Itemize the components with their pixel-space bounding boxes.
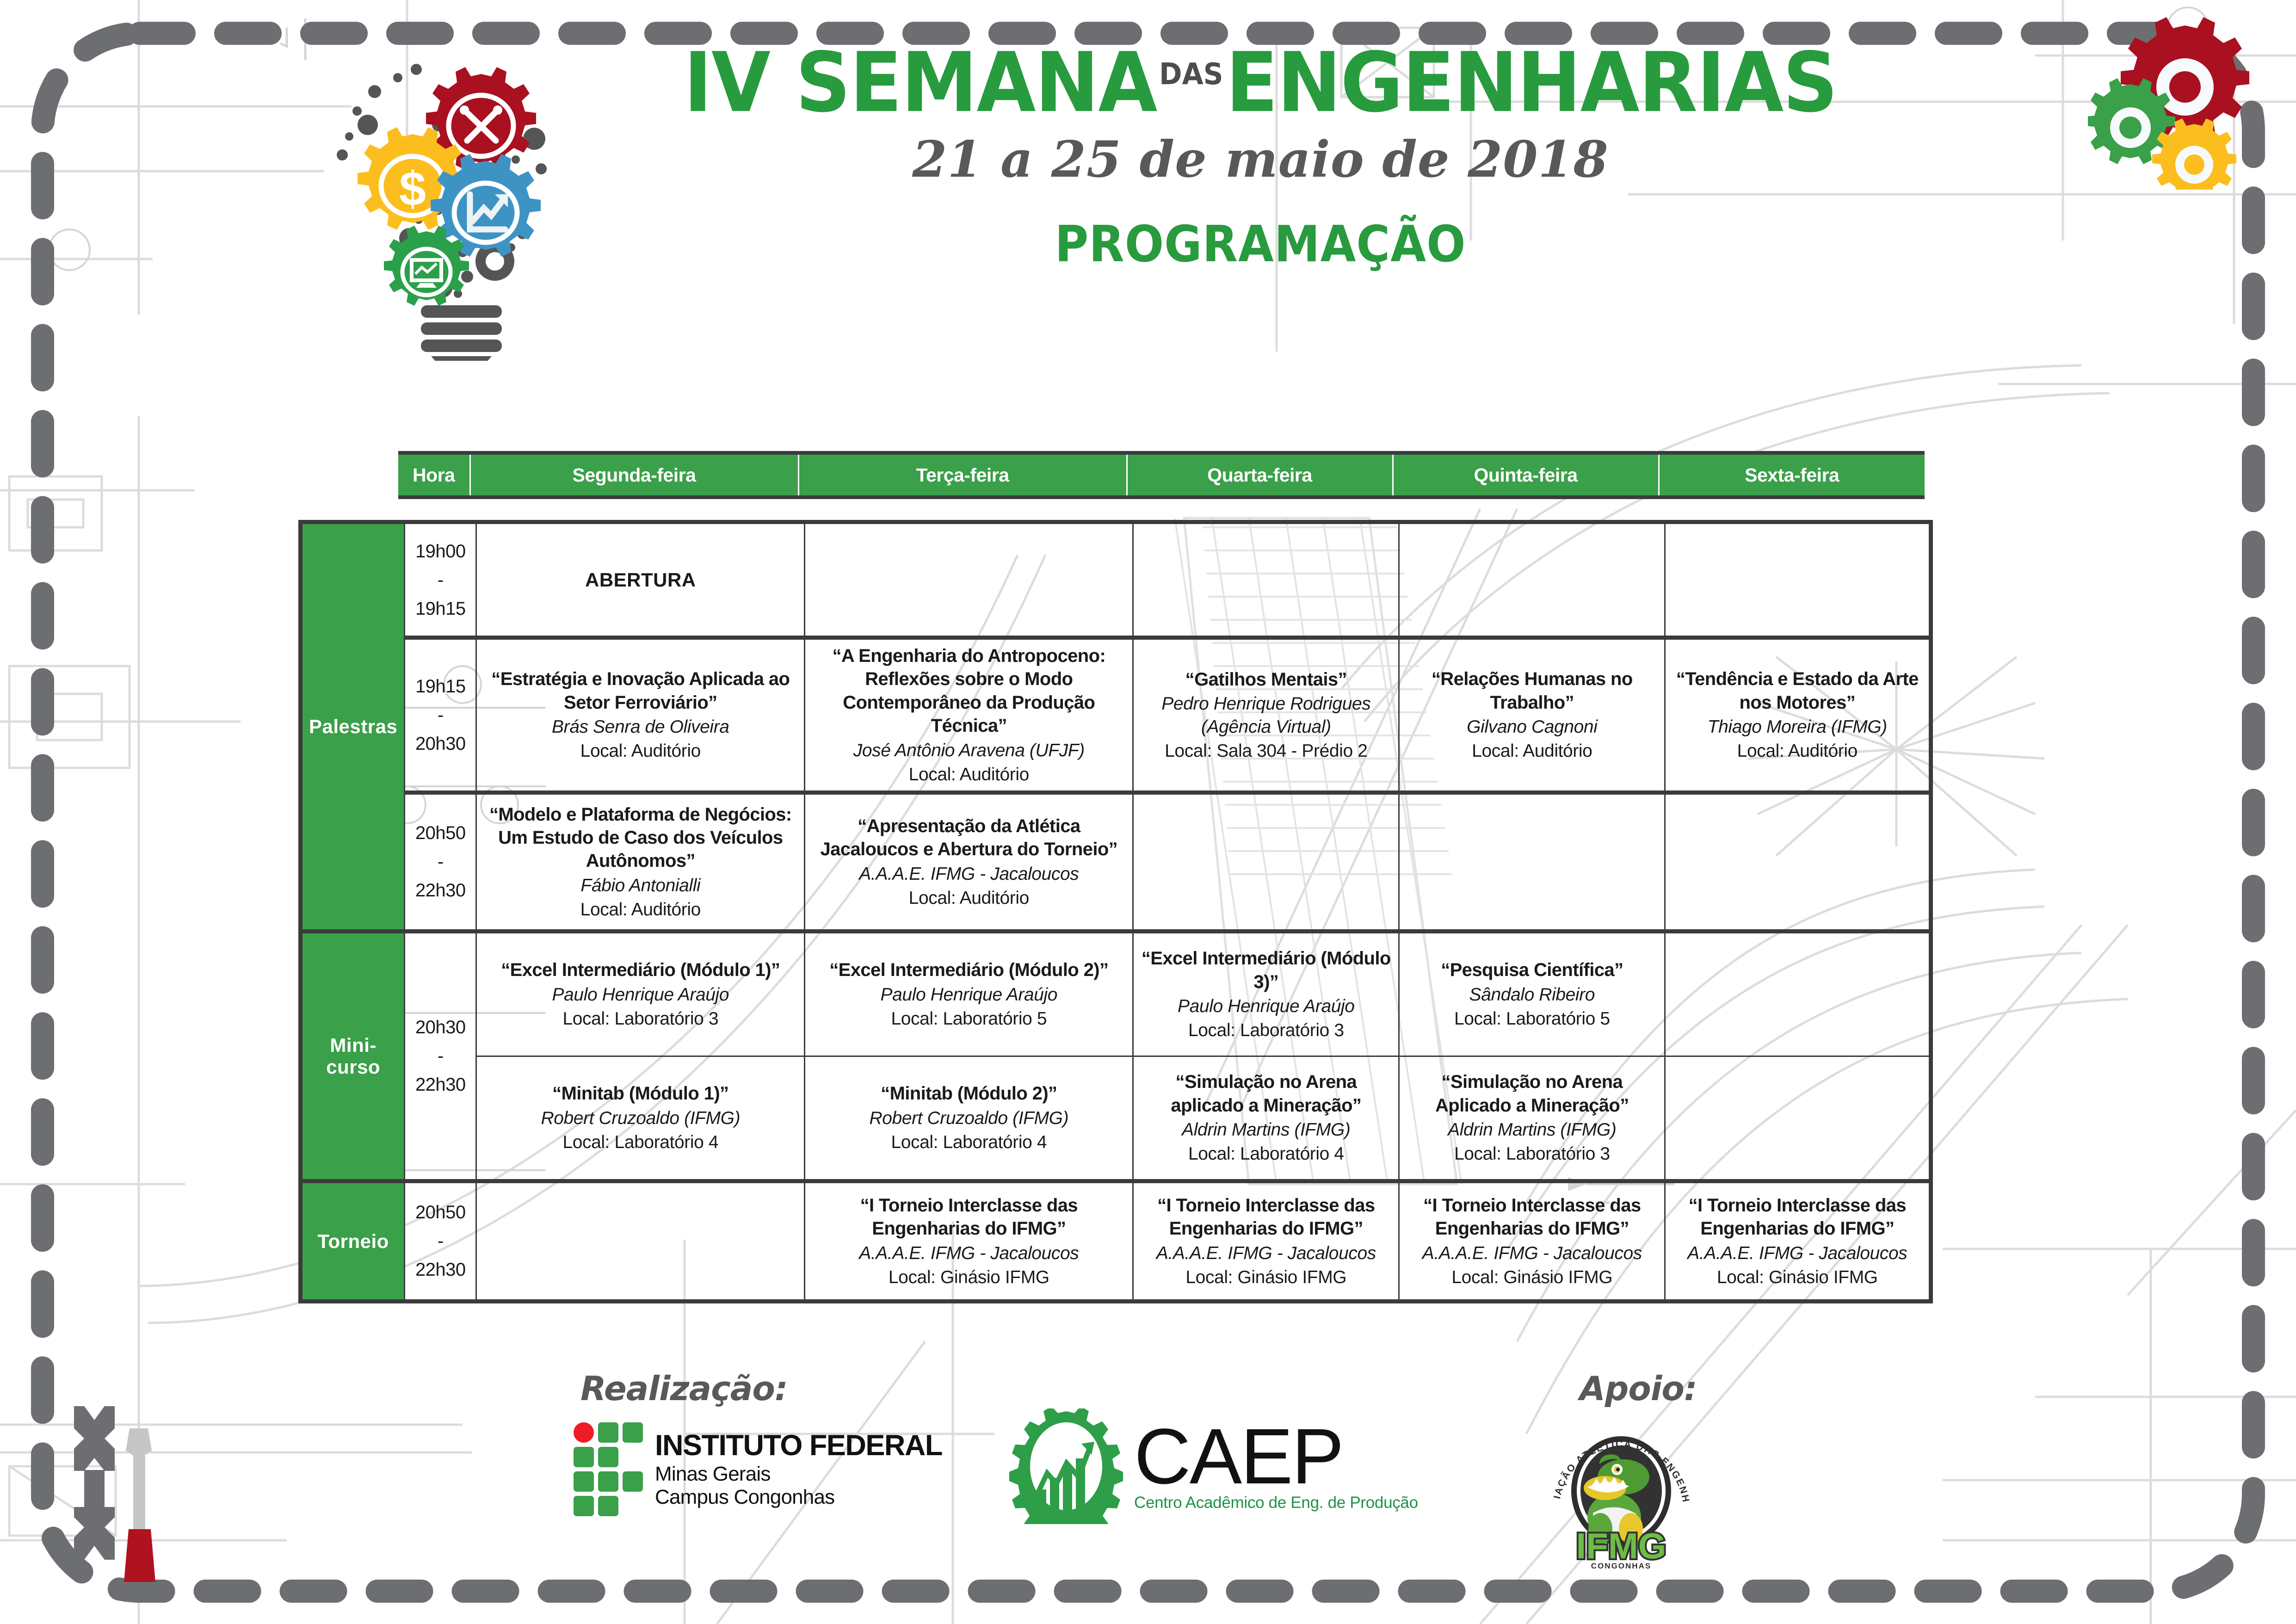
event-cell-quarta: “I Torneio Interclasse das Engenharias d…	[1133, 1181, 1399, 1301]
event-cell-quinta: “Pesquisa Científica” Sândalo Ribeiro Lo…	[1399, 931, 1665, 1056]
corner-gear-cluster	[2088, 5, 2282, 190]
table-row: Torneio 20h50 - 22h30 “I Torneio Intercl…	[301, 1181, 1931, 1301]
event-speaker: A.A.A.E. IFMG - Jacaloucos	[812, 863, 1126, 885]
event-location: Local: Auditório	[1672, 740, 1922, 762]
category-cell-torneio: Torneio	[301, 1181, 405, 1301]
event-location: Local: Auditório	[812, 763, 1126, 786]
event-cell-quarta: “Excel Intermediário (Módulo 3)” Paulo H…	[1133, 931, 1399, 1056]
col-header-sexta-feira: Sexta-feira	[1659, 453, 1925, 497]
section-title-programacao: PROGRAMAÇÃO	[650, 216, 1871, 273]
table-row: Mini-curso 20h30 - 22h30 “Excel Intermed…	[301, 931, 1931, 1056]
screwdriver-icon	[124, 1428, 155, 1582]
event-location: Local: Laboratório 3	[483, 1007, 797, 1030]
event-cell-quarta: “Simulação no Arena aplicado a Mineração…	[1133, 1056, 1399, 1181]
event-cell-sexta	[1665, 931, 1931, 1056]
event-location: Local: Auditório	[1406, 740, 1658, 762]
event-cell-terca: “Minitab (Módulo 2)” Robert Cruzoaldo (I…	[805, 1056, 1133, 1181]
event-title: “Tendência e Estado da Arte nos Motores”	[1672, 667, 1922, 714]
schedule-body: Palestras 19h00 - 19h15 ABERTURA 19h15 -…	[298, 520, 1933, 1303]
caep-acronym: CAEP	[1134, 1420, 1418, 1493]
header-body-gap	[298, 499, 1933, 520]
event-plain: ABERTURA	[483, 569, 797, 591]
event-title: “I Torneio Interclasse das Engenharias d…	[1140, 1194, 1392, 1241]
realizacao-label: Realização:	[580, 1369, 788, 1408]
event-title: “Excel Intermediário (Módulo 2)”	[812, 958, 1126, 982]
event-speaker: Paulo Henrique Araújo	[812, 983, 1126, 1006]
event-cell-quarta	[1133, 792, 1399, 931]
col-header-hora: Hora	[398, 453, 470, 497]
event-title: “Minitab (Módulo 2)”	[812, 1082, 1126, 1105]
poster-root: $	[0, 0, 2296, 1624]
event-cell-quinta	[1399, 792, 1665, 931]
hora-cell: 20h30 - 22h30	[405, 931, 476, 1181]
schedule-header-row: Hora Segunda-feira Terça-feira Quarta-fe…	[398, 451, 1925, 499]
atletica-acronym: IFMG	[1576, 1525, 1666, 1566]
ifmg-institutional-logo: INSTITUTO FEDERAL Minas Gerais Campus Co…	[574, 1422, 942, 1516]
event-title: “Relações Humanas no Trabalho”	[1406, 667, 1658, 714]
event-location: Local: Laboratório 3	[1406, 1142, 1658, 1165]
event-title: “Minitab (Módulo 1)”	[483, 1082, 797, 1105]
event-location: Local: Ginásio IFMG	[812, 1266, 1126, 1289]
event-speaker: Robert Cruzoaldo (IFMG)	[483, 1107, 797, 1130]
event-location: Local: Laboratório 5	[1406, 1007, 1658, 1030]
title-block: IV SEMANADASENGENHARIAS 21 a 25 de maio …	[597, 42, 1924, 273]
event-cell-segunda: “Minitab (Módulo 1)” Robert Cruzoaldo (I…	[476, 1056, 805, 1181]
event-cell-quarta	[1133, 522, 1399, 638]
event-speaker: Gilvano Cagnoni	[1406, 716, 1658, 738]
event-title: “I Torneio Interclasse das Engenharias d…	[1672, 1194, 1922, 1241]
hora-cell: 19h15 - 20h30	[405, 638, 476, 793]
event-title: “I Torneio Interclasse das Engenharias d…	[812, 1194, 1126, 1241]
title-part-2: ENGENHARIAS	[1226, 35, 1837, 130]
event-cell-sexta	[1665, 1056, 1931, 1181]
event-cell-segunda: “Estratégia e Inovação Aplicada ao Setor…	[476, 638, 805, 793]
event-title: “Modelo e Plataforma de Negócios: Um Est…	[483, 803, 797, 873]
event-title: “Excel Intermediário (Módulo 3)”	[1140, 947, 1392, 994]
category-cell-mini-curso: Mini-curso	[301, 931, 405, 1181]
event-speaker: A.A.A.E. IFMG - Jacaloucos	[1672, 1242, 1922, 1265]
col-header-segunda-feira: Segunda-feira	[470, 453, 798, 497]
event-cell-terca: “I Torneio Interclasse das Engenharias d…	[805, 1181, 1133, 1301]
event-title: “Simulação no Arena aplicado a Mineração…	[1140, 1070, 1392, 1117]
event-speaker: José Antônio Aravena (UFJF)	[812, 739, 1126, 762]
svg-text:$: $	[399, 162, 426, 216]
event-cell-terca	[805, 522, 1133, 638]
event-cell-terca: “A Engenharia do Antropoceno: Reflexões …	[805, 638, 1133, 793]
table-row: Palestras 19h00 - 19h15 ABERTURA	[301, 522, 1931, 638]
event-speaker: Paulo Henrique Araújo	[483, 983, 797, 1006]
wrench-icon	[74, 1406, 115, 1560]
table-row: 19h15 - 20h30 “Estratégia e Inovação Apl…	[301, 638, 1931, 793]
event-dates: 21 a 25 de maio de 2018	[597, 130, 1924, 189]
event-cell-sexta: “I Torneio Interclasse das Engenharias d…	[1665, 1181, 1931, 1301]
event-speaker: Pedro Henrique Rodrigues (Agência Virtua…	[1140, 692, 1392, 738]
event-title: “Estratégia e Inovação Aplicada ao Setor…	[483, 667, 797, 714]
event-speaker: Fábio Antonialli	[483, 874, 797, 897]
event-speaker: A.A.A.E. IFMG - Jacaloucos	[812, 1242, 1126, 1265]
col-header-terca-feira: Terça-feira	[798, 453, 1127, 497]
page-title: IV SEMANADASENGENHARIAS	[643, 42, 1877, 124]
caep-logo: CAEP Centro Acadêmico de Eng. de Produçã…	[1008, 1408, 1418, 1524]
bulb-base	[421, 305, 502, 361]
event-location: Local: Auditório	[812, 887, 1126, 909]
caep-text-block: CAEP Centro Acadêmico de Eng. de Produçã…	[1134, 1420, 1418, 1512]
event-cell-segunda	[476, 1181, 805, 1301]
event-title: “Gatilhos Mentais”	[1140, 668, 1392, 691]
event-speaker: A.A.A.E. IFMG - Jacaloucos	[1140, 1242, 1392, 1265]
table-row: “Minitab (Módulo 1)” Robert Cruzoaldo (I…	[301, 1056, 1931, 1181]
event-location: Local: Laboratório 3	[1140, 1019, 1392, 1042]
col-header-quarta-feira: Quarta-feira	[1127, 453, 1393, 497]
event-speaker: Robert Cruzoaldo (IFMG)	[812, 1107, 1126, 1130]
event-location: Local: Auditório	[483, 898, 797, 921]
event-cell-quinta: “I Torneio Interclasse das Engenharias d…	[1399, 1181, 1665, 1301]
apoio-label: Apoio:	[1580, 1369, 1697, 1408]
event-location: Local: Laboratório 5	[812, 1007, 1126, 1030]
event-title: “I Torneio Interclasse das Engenharias d…	[1406, 1194, 1658, 1241]
event-speaker: Brás Senra de Oliveira	[483, 716, 797, 738]
event-cell-sexta: “Tendência e Estado da Arte nos Motores”…	[1665, 638, 1931, 793]
ifmg-logo-text: INSTITUTO FEDERAL Minas Gerais Campus Co…	[655, 1431, 942, 1507]
event-title: “A Engenharia do Antropoceno: Reflexões …	[812, 644, 1126, 738]
title-das: DAS	[1159, 60, 1223, 89]
hora-cell: 20h50 - 22h30	[405, 792, 476, 931]
ifmg-line-1: INSTITUTO FEDERAL	[655, 1431, 942, 1460]
event-location: Local: Ginásio IFMG	[1406, 1266, 1658, 1289]
event-cell-quinta: “Relações Humanas no Trabalho” Gilvano C…	[1399, 638, 1665, 793]
caep-tagline: Centro Acadêmico de Eng. de Produção	[1134, 1494, 1418, 1512]
event-title: “Pesquisa Científica”	[1406, 958, 1658, 982]
event-speaker: Paulo Henrique Araújo	[1140, 995, 1392, 1018]
event-speaker: Aldrin Martins (IFMG)	[1406, 1118, 1658, 1141]
event-title: “Excel Intermediário (Módulo 1)”	[483, 958, 797, 982]
event-cell-segunda: “Modelo e Plataforma de Negócios: Um Est…	[476, 792, 805, 931]
atletica-ifmg-logo: ASSOCIAÇÃO ATLÉTICA DAS ENGENHARIAS IFMG…	[1545, 1418, 1697, 1570]
ifmg-line-3: Campus Congonhas	[655, 1487, 942, 1507]
event-cell-segunda: “Excel Intermediário (Módulo 1)” Paulo H…	[476, 931, 805, 1056]
caep-gear-chart-icon	[1008, 1408, 1124, 1524]
event-speaker: Sândalo Ribeiro	[1406, 983, 1658, 1006]
hora-cell: 20h50 - 22h30	[405, 1181, 476, 1301]
event-cell-quinta: “Simulação no Arena Aplicado a Mineração…	[1399, 1056, 1665, 1181]
lightbulb-gears-logo: $	[324, 56, 555, 361]
wrench-screwdriver-illustration	[56, 1406, 194, 1624]
event-speaker: Aldrin Martins (IFMG)	[1140, 1118, 1392, 1141]
ifmg-line-2: Minas Gerais	[655, 1464, 942, 1484]
event-title: “Apresentação da Atlética Jacaloucos e A…	[812, 815, 1126, 861]
title-part-1: IV SEMANA	[684, 35, 1156, 130]
event-cell-terca: “Excel Intermediário (Módulo 2)” Paulo H…	[805, 931, 1133, 1056]
event-location: Local: Laboratório 4	[483, 1131, 797, 1154]
event-cell-sexta	[1665, 522, 1931, 638]
event-cell-terca: “Apresentação da Atlética Jacaloucos e A…	[805, 792, 1133, 931]
event-location: Local: Ginásio IFMG	[1140, 1266, 1392, 1289]
event-cell-sexta	[1665, 792, 1931, 931]
atletica-city: CONGONHAS	[1591, 1562, 1651, 1570]
event-speaker: A.A.A.E. IFMG - Jacaloucos	[1406, 1242, 1658, 1265]
table-row: 20h50 - 22h30 “Modelo e Plataforma de Ne…	[301, 792, 1931, 931]
if-mark-icon	[574, 1422, 643, 1516]
event-title: “Simulação no Arena Aplicado a Mineração…	[1406, 1070, 1658, 1117]
hora-cell: 19h00 - 19h15	[405, 522, 476, 638]
event-cell-quarta: “Gatilhos Mentais” Pedro Henrique Rodrig…	[1133, 638, 1399, 793]
category-cell-palestras: Palestras	[301, 522, 405, 932]
event-location: Local: Laboratório 4	[1140, 1142, 1392, 1165]
event-location: Local: Ginásio IFMG	[1672, 1266, 1922, 1289]
event-speaker: Thiago Moreira (IFMG)	[1672, 716, 1922, 738]
event-location: Local: Sala 304 - Prédio 2	[1140, 740, 1392, 762]
event-cell-quinta	[1399, 522, 1665, 638]
schedule-table-wrapper: Hora Segunda-feira Terça-feira Quarta-fe…	[298, 451, 1933, 1303]
svg-text:IFMG: IFMG	[1576, 1525, 1666, 1566]
event-location: Local: Laboratório 4	[812, 1131, 1126, 1154]
event-location: Local: Auditório	[483, 740, 797, 762]
event-cell-segunda: ABERTURA	[476, 522, 805, 638]
col-header-quinta-feira: Quinta-feira	[1393, 453, 1659, 497]
